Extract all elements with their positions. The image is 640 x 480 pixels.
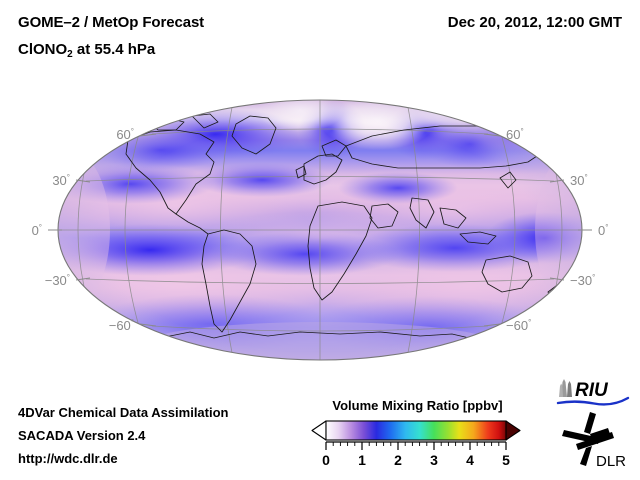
degree-symbol: °: [528, 318, 531, 327]
footer-line-version: SACADA Version 2.4: [18, 424, 229, 447]
riu-tower-icon: [559, 379, 572, 397]
page-title: GOME–2 / MetOp Forecast: [18, 14, 204, 31]
lat-label-left-minus30: −30°: [45, 273, 70, 288]
degree-symbol: °: [67, 273, 70, 282]
lat-label-right-0: 0°: [598, 223, 608, 238]
footer-line-method: 4DVar Chemical Data Assimilation: [18, 401, 229, 424]
degree-symbol: °: [131, 318, 134, 327]
lat-label-inner-bottom-left-minus60: −60°: [109, 318, 134, 333]
colorbar-arrow-low: [312, 421, 326, 440]
species-level: at 55.4 hPa: [73, 41, 156, 58]
degree-symbol: °: [131, 127, 134, 136]
lat-label-inner-bottom-right-minus60: −60°: [506, 318, 531, 333]
colorbar-axis: [326, 442, 506, 450]
colorbar-tick-2: 2: [394, 452, 402, 468]
riu-logo-text: RIU: [575, 380, 609, 401]
colorbar-tick-1: 1: [358, 452, 366, 468]
visualization-page: GOME–2 / MetOp Forecast ClONO2 at 55.4 h…: [0, 0, 640, 480]
timestamp: Dec 20, 2012, 12:00 GMT: [448, 14, 622, 31]
degree-symbol: °: [584, 173, 587, 182]
data-field: [20, 88, 630, 384]
riu-logo: RIU: [556, 377, 632, 409]
colorbar-arrow-high: [506, 421, 520, 440]
degree-symbol: °: [605, 223, 608, 232]
species-subscript: 2: [67, 49, 73, 60]
dlr-logo: DLR: [560, 410, 632, 472]
species-name: ClONO: [18, 41, 67, 58]
global-map: 0° 30° −30° 0° 30° −30° 60° 60° −60° −60…: [0, 88, 640, 384]
footer-line-url[interactable]: http://wdc.dlr.de: [18, 447, 229, 470]
colorbar-minor-ticks: [333, 442, 499, 446]
lat-label-right-minus30: −30°: [570, 273, 595, 288]
species-subtitle: ClONO2 at 55.4 hPa: [18, 41, 155, 58]
dlr-logo-text: DLR: [596, 453, 626, 470]
colorbar-tick-5: 5: [502, 452, 510, 468]
lat-label-left-30: 30°: [52, 173, 70, 188]
degree-symbol: °: [592, 273, 595, 282]
colorbar-tick-3: 3: [430, 452, 438, 468]
colorbar: Volume Mixing Ratio [ppbv]: [310, 398, 538, 474]
colorbar-tick-0: 0: [322, 452, 330, 468]
colorbar-tick-4: 4: [466, 452, 474, 468]
footer-info: 4DVar Chemical Data Assimilation SACADA …: [18, 401, 229, 470]
colorbar-tick-labels: 0 1 2 3 4 5: [322, 452, 510, 468]
degree-symbol: °: [520, 127, 523, 136]
colorbar-title: Volume Mixing Ratio [ppbv]: [310, 398, 525, 413]
lat-label-inner-top-right-60: 60°: [506, 127, 524, 142]
lat-label-left-0: 0°: [32, 223, 42, 238]
colorbar-gradient: [326, 421, 506, 440]
degree-symbol: °: [67, 173, 70, 182]
degree-symbol: °: [39, 223, 42, 232]
lat-label-right-30: 30°: [570, 173, 588, 188]
